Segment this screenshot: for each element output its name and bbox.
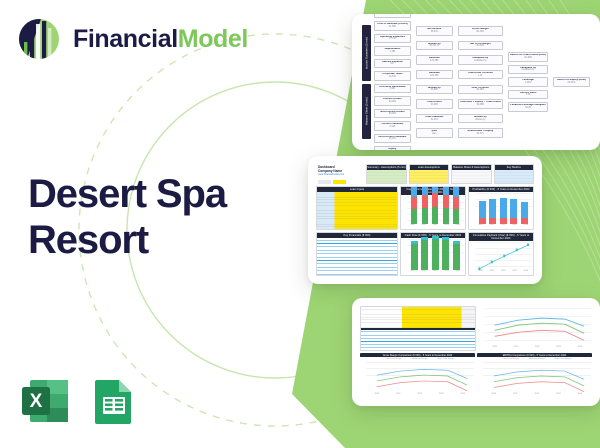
panel-summary-assumptions: Summary - Assumptions (5 mio) (366, 164, 406, 184)
flow-node: Total Asset Turnover1.31 (458, 70, 503, 80)
flow-node: Current Ratio3.48 (508, 90, 548, 100)
flow-node: divided by93,986 (416, 85, 453, 95)
flow-node: Revenue123,456 (374, 14, 411, 18)
brand-name-part2: Model (178, 25, 248, 53)
flow-node: Shareholder's Equity62,971 (458, 128, 503, 138)
panel-revenue-assumptions (360, 306, 476, 351)
line-chart-ebitda (483, 362, 591, 395)
rail-income-statement: Income Statement (5 mio) (362, 25, 371, 81)
waterfall-chart (477, 194, 530, 223)
excel-icon[interactable]: X (20, 376, 70, 426)
stacked-bar-chart (409, 197, 462, 223)
financial-model-circle-logo (16, 16, 62, 62)
panel-cash-flow: Cash Flow (€ 000) - 5 Years to December … (400, 232, 466, 276)
panel-balance-assumptions: Balance Sheet & Assumptions (451, 164, 491, 184)
flow-node: Total Liabilities31,015 (416, 114, 453, 124)
update-button[interactable] (333, 180, 346, 183)
flow-node: multiplied bymultiplied by (508, 65, 548, 75)
line-chart-revenue-ebitda (484, 308, 591, 349)
panel-loan-inputs: Loan Inputs (316, 186, 398, 230)
flow-node: Current Liabilities6,915 (374, 121, 411, 131)
flow-node: Current Assets24,084 (374, 96, 411, 106)
rail-balance-sheet: Balance Sheet (5 mio) (362, 84, 371, 140)
bar-chart-cash-flow (409, 240, 462, 269)
panel-key-metrics: Key Metrics (494, 164, 534, 184)
panel-key-financials: Key Financials (€ 000) (316, 232, 398, 276)
file-format-icons: X (20, 376, 139, 426)
brand-name-part1: Financial (73, 25, 178, 53)
google-sheets-icon[interactable] (89, 376, 139, 426)
flow-node: Total Assets93,986 (416, 99, 453, 109)
flow-node: Cost of Revenue (COGS)41,580 (374, 21, 411, 31)
flow-node: Equity62,971 (374, 146, 411, 150)
flow-node: Leverage1.49% (508, 77, 548, 87)
panel-gross-margin-comparison: Gross Margin Comparison (€ 000) - 5 Year… (360, 353, 475, 398)
panel-profitability: Profitability (€ 000) - 5 Years to Decem… (468, 186, 534, 230)
line-chart-gross-margin (366, 362, 474, 395)
flow-node: ROE Turnover40.48% (458, 85, 503, 95)
flow-node: Gross Margin66.33% (458, 26, 503, 36)
flow-node: Non-Current Assets69,902 (374, 109, 411, 119)
flow-node: Revenue123,456 (416, 55, 453, 65)
flow-node: Corporate Taxes10,155 (374, 71, 411, 81)
reset-button[interactable] (318, 180, 331, 183)
flow-node: Non-Current Liabilities24,100 (374, 134, 411, 144)
dashboard-link: www.financialmodel.com (318, 173, 362, 176)
flow-node: divided by38,041 % (416, 41, 453, 51)
flow-node: Return on Equity (ROE)60.41% (553, 77, 590, 87)
flow-node: Net Profit Margin30.82% (458, 41, 503, 51)
panel-cumulative-payback: Cumulative Payback (Year) (€ 000) - 5 Ye… (468, 232, 534, 276)
flow-node: multiplied bymultiplied by (458, 55, 503, 65)
dupont-flowchart-preview[interactable]: Income Statement (5 mio) Balance Sheet (… (352, 14, 600, 150)
line-chart-payback (475, 242, 532, 272)
dashboard-preview[interactable]: Dashboard Company Name www.financialmode… (308, 156, 542, 284)
flow-node: Return on Total Assets (ROA)40.48% (508, 52, 548, 62)
dashboard-brand-block: Dashboard Company Name www.financialmode… (316, 164, 364, 184)
flow-node: Interest Expense617 (374, 59, 411, 69)
flow-node: plusplus (416, 128, 453, 138)
analysis-preview[interactable]: 20202021202220232024 Gross Margin Compar… (352, 298, 600, 406)
flow-node: Accounts Receivable8,981 (374, 84, 411, 94)
panel-ebitda-comparison: EBITDA Comparison (€ 000) - 5 Years to D… (477, 353, 592, 398)
panel-loan-assumptions: Loan Assumptions (409, 164, 449, 184)
flow-node: Depreciation1,384 (374, 46, 411, 56)
page-title: Desert Spa Resort (28, 172, 258, 263)
flow-node: Operating Expenses17,718 (374, 34, 411, 44)
panel-revenue-ebitda: 20202021202220232024 (478, 306, 592, 351)
flow-node: divided bydivided by (458, 114, 503, 124)
flow-node: Total Debt + Equity = Total Assets93,986 (458, 99, 503, 109)
svg-text:X: X (30, 391, 43, 412)
flow-node: Financial Leverage multiplier49.25 (508, 102, 548, 112)
flow-node: Net Income38,041 (416, 26, 453, 36)
flow-node: Revenue123,456 (416, 70, 453, 80)
brand-logo: FinancialModel (16, 16, 248, 62)
brand-name: FinancialModel (73, 25, 248, 54)
panel-cap-summary: Cap-I Summary Balance (€ 000) - 5 Years … (400, 186, 466, 230)
